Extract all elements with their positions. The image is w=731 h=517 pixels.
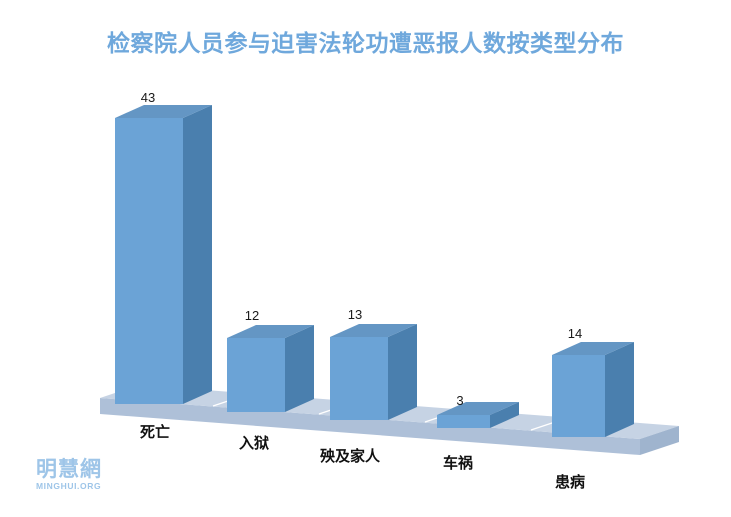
bar-front-face: [437, 415, 490, 428]
bar-category-label: 入狱: [239, 435, 269, 452]
bar-value-label: 13: [348, 307, 362, 322]
bar-value-label: 43: [141, 90, 155, 105]
chart-container: 检察院人员参与迫害法轮功遭恶报人数按类型分布 43 死亡 12 入狱: [0, 0, 731, 517]
bar-category-label: 患病: [555, 473, 585, 491]
bar-front-face: [115, 118, 183, 404]
watermark-chinese-text: 明慧網: [36, 458, 156, 480]
bar-column[interactable]: [227, 325, 314, 412]
bar-column[interactable]: [115, 105, 212, 404]
bar-front-face: [330, 337, 388, 420]
bar-side-face: [285, 325, 314, 412]
bar-value-label: 12: [245, 308, 259, 323]
bar-front-face: [227, 338, 285, 412]
bar-chart-plot: 43 死亡 12 入狱 13 殃及家人 3 车祸: [0, 0, 731, 517]
bar-front-face: [552, 355, 605, 437]
bar-side-face: [388, 324, 417, 420]
bar-category-label: 死亡: [140, 423, 170, 441]
bar-column[interactable]: [552, 342, 634, 437]
bar-category-label: 车祸: [443, 454, 473, 472]
minghui-watermark: 明慧網 MINGHUI.ORG: [36, 458, 156, 491]
watermark-english-text: MINGHUI.ORG: [36, 481, 156, 491]
bar-value-label: 14: [568, 326, 582, 341]
bar-value-label: 3: [456, 393, 463, 408]
bar-side-face: [183, 105, 212, 404]
bar-column[interactable]: [330, 324, 417, 420]
bar-category-label: 殃及家人: [320, 447, 381, 465]
bar-side-face: [605, 342, 634, 437]
